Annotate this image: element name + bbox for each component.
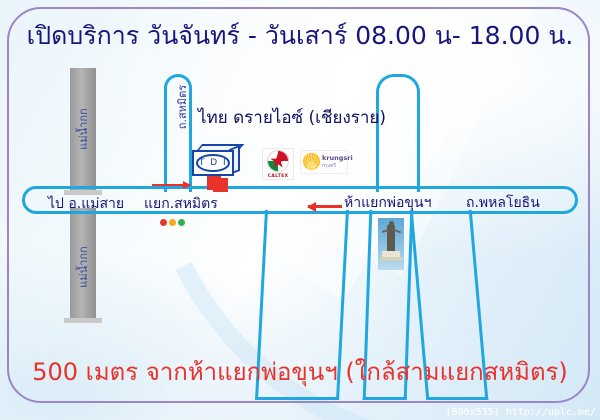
shop-name-label: ไทย ดรายไอซ์ (เชียงราย) (198, 104, 386, 131)
krungsri-wordmark-en: krungsri (322, 154, 353, 162)
distance-note: 500 เมตร จากห้าแยกพ่อขุนฯ (ใกล้สามแยกสหม… (0, 352, 600, 391)
sahamit-road-label: ถ.สหมิตร (173, 85, 191, 129)
red-marker-square (213, 178, 228, 192)
traffic-light-icon (160, 219, 185, 226)
map-image: เปิดบริการ วันจันทร์ - วันเสาร์ 08.00 น-… (0, 0, 600, 420)
label-sahamit-junction: แยก.สหมิตร (144, 193, 218, 215)
opening-hours-heading: เปิดบริการ วันจันทร์ - วันเสาร์ 08.00 น-… (0, 16, 600, 56)
arrow-left-icon (308, 205, 342, 208)
monument-pedestal-bottom (380, 257, 402, 261)
river-label-lower: แม่น้ำกก (74, 241, 92, 293)
label-to-maesai: ไป อ.แม่สาย (48, 193, 124, 215)
traffic-lamp-red (160, 219, 167, 226)
tdi-box-logo: T D I (192, 144, 240, 174)
watermark-text: [800x535] http://uplc.me/ (445, 407, 596, 418)
north-side-road-loop (376, 74, 420, 192)
river-bridge-lower (64, 318, 102, 323)
traffic-lamp-green (178, 219, 185, 226)
traffic-lamp-amber (169, 219, 176, 226)
label-phahonyothin-road: ถ.พหลโยธิน (466, 192, 540, 214)
caltex-wordmark: CALTEX (263, 174, 293, 179)
tdi-logo-text: T D I (196, 154, 230, 172)
king-mengrai-monument-photo (378, 218, 404, 270)
krungsri-logo: krungsri กรุงศรี (300, 150, 348, 174)
krungsri-wordmark-th: กรุงศรี (322, 162, 336, 170)
label-phokhun-junction: ห้าแยกพ่อขุนฯ (344, 192, 431, 214)
river-label-upper: แม่น้ำกก (74, 103, 92, 155)
caltex-logo: CALTEX (262, 148, 294, 180)
arrow-right-icon (152, 184, 190, 186)
krungsri-sunburst-rays (304, 154, 319, 169)
